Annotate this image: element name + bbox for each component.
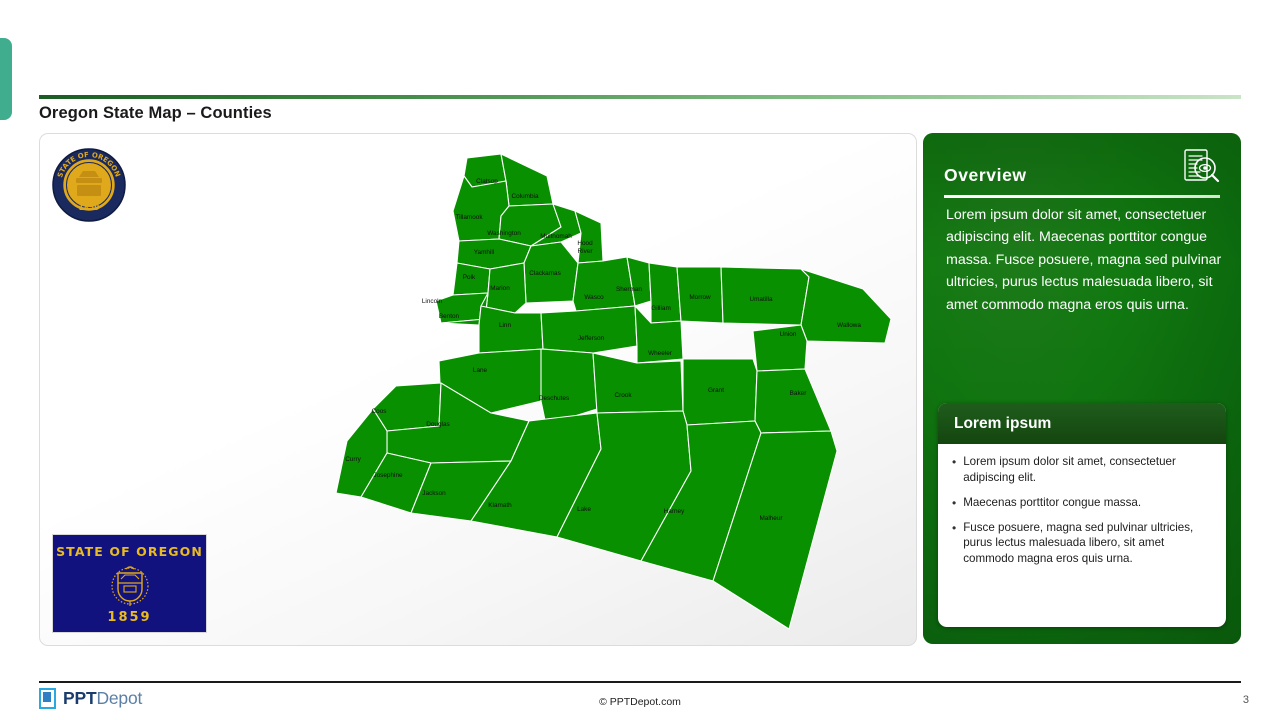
svg-text:Clackamas: Clackamas (529, 270, 561, 277)
sub-card-title: Lorem ipsum (954, 415, 1051, 433)
svg-text:Klamath: Klamath (488, 502, 512, 509)
overview-divider (944, 195, 1220, 198)
overview-title: Overview (944, 165, 1027, 186)
sub-card-header: Lorem ipsum (938, 403, 1226, 444)
svg-text:Yamhill: Yamhill (474, 249, 494, 256)
svg-text:Lake: Lake (577, 506, 591, 513)
svg-text:Baker: Baker (790, 390, 808, 397)
svg-text:Deschutes: Deschutes (539, 395, 569, 402)
svg-text:Josephine: Josephine (373, 472, 403, 479)
svg-text:Umatilla: Umatilla (749, 296, 773, 303)
bullet-icon: • (952, 520, 956, 567)
list-item-label: Maecenas porttitor congue massa. (963, 495, 1212, 511)
list-item-label: Lorem ipsum dolor sit amet, consectetuer… (963, 454, 1212, 486)
page-number: 3 (1243, 694, 1249, 706)
svg-text:Coos: Coos (372, 408, 387, 415)
header-divider (39, 95, 1241, 99)
svg-text:Malheur: Malheur (759, 515, 783, 522)
svg-text:Clatsop: Clatsop (476, 178, 498, 185)
bullet-icon: • (952, 495, 956, 511)
svg-text:Marion: Marion (490, 285, 510, 292)
left-accent-tab (0, 38, 12, 120)
overview-body-text: Lorem ipsum dolor sit amet, consectetuer… (946, 204, 1224, 316)
svg-text:Lincoln: Lincoln (422, 298, 443, 305)
svg-text:Grant: Grant (708, 387, 724, 394)
flag-year: 1859 (53, 610, 206, 625)
list-item-label: Fusce posuere, magna sed pulvinar ultric… (963, 520, 1212, 567)
svg-text:Wallowa: Wallowa (837, 322, 861, 329)
svg-text:River: River (578, 248, 594, 255)
svg-text:Union: Union (780, 331, 797, 338)
svg-text:Linn: Linn (499, 322, 512, 329)
list-item: • Lorem ipsum dolor sit amet, consectetu… (952, 454, 1212, 486)
svg-text:Douglas: Douglas (426, 421, 449, 428)
svg-text:Columbia: Columbia (512, 193, 539, 200)
oregon-state-flag: STATE OF OREGON 1859 (52, 534, 207, 633)
svg-text:Hood: Hood (577, 240, 593, 247)
svg-text:Polk: Polk (463, 274, 476, 281)
sub-card-body: • Lorem ipsum dolor sit amet, consectetu… (938, 444, 1226, 567)
list-item: • Maecenas porttitor congue massa. (952, 495, 1212, 511)
document-search-icon (1181, 147, 1223, 189)
svg-text:Wasco: Wasco (584, 294, 604, 301)
overview-side-panel: Overview Lorem ipsum dolor sit amet, con… (923, 133, 1241, 644)
svg-text:Crook: Crook (614, 392, 632, 399)
list-item: • Fusce posuere, magna sed pulvinar ultr… (952, 520, 1212, 567)
page-title: Oregon State Map – Counties (39, 104, 272, 123)
sub-card: Lorem ipsum • Lorem ipsum dolor sit amet… (938, 403, 1226, 627)
svg-text:Jackson: Jackson (422, 490, 446, 497)
flag-title: STATE OF OREGON (53, 544, 206, 559)
svg-text:Tillamook: Tillamook (455, 214, 483, 221)
svg-text:Benton: Benton (439, 313, 460, 320)
svg-text:Harney: Harney (664, 508, 685, 515)
bullet-icon: • (952, 454, 956, 486)
footer-copyright: © PPTDepot.com (0, 696, 1280, 708)
flag-escutcheon-icon (106, 561, 154, 609)
svg-text:Sherman: Sherman (616, 286, 642, 293)
svg-text:Multnomah: Multnomah (540, 233, 572, 240)
svg-text:Curry: Curry (345, 456, 361, 463)
svg-text:Washington: Washington (487, 230, 521, 237)
svg-text:Wheeler: Wheeler (648, 350, 673, 357)
svg-text:Jefferson: Jefferson (578, 335, 605, 342)
svg-text:Gilliam: Gilliam (651, 305, 671, 312)
footer-divider (39, 681, 1241, 683)
svg-text:Morrow: Morrow (689, 294, 711, 301)
svg-text:Lane: Lane (473, 367, 488, 374)
map-panel[interactable]: STATE OF OREGON 1859 (39, 133, 917, 646)
